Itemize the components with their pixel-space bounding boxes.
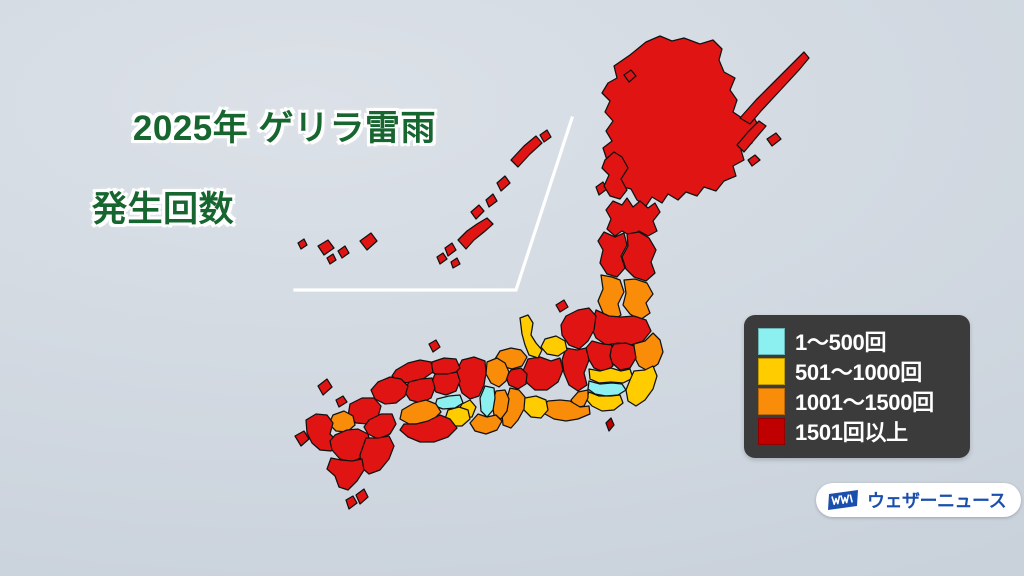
legend-label-1: 501〜1000回 [795, 355, 922, 387]
pref-hokkaido-shiretoko[interactable] [740, 52, 809, 124]
pref-izuisland[interactable] [606, 418, 614, 431]
pref-saitama[interactable] [589, 368, 633, 383]
weather-map-screen: 2025年 ゲリラ雷雨 発生回数 1〜500回 501〜1000回 1001〜1… [0, 0, 1024, 576]
pref-nansei-isl8[interactable] [540, 130, 551, 142]
pref-nansei-isl4[interactable] [471, 205, 484, 219]
pref-yamaguchi[interactable] [371, 377, 408, 404]
pref-okinawa-isl1[interactable] [445, 243, 456, 256]
pref-akita[interactable] [598, 232, 627, 277]
legend-swatch-1 [758, 358, 785, 385]
title-line-1: 2025年 ゲリラ雷雨 [133, 109, 436, 148]
pref-hokkaido[interactable] [602, 36, 757, 206]
pref-nagano[interactable] [562, 348, 589, 391]
legend-swatch-2 [758, 388, 785, 415]
pref-ishikawa[interactable] [520, 315, 542, 358]
legend-panel: 1〜500回 501〜1000回 1001〜1500回 1501回以上 [744, 315, 970, 458]
weathernews-logo[interactable]: ウェザーニュース [816, 483, 1021, 517]
pref-nagasaki-iki[interactable] [336, 396, 347, 407]
legend-swatch-3 [758, 418, 785, 445]
pref-miyazaki[interactable] [360, 436, 394, 474]
legend-label-3: 1501回以上 [795, 415, 908, 447]
page-title: 2025年 ゲリラ雷雨 発生回数 [92, 68, 436, 312]
pref-sado[interactable] [556, 300, 568, 312]
pref-osaka[interactable] [480, 386, 495, 417]
legend-label-2: 1001〜1500回 [795, 385, 934, 417]
legend-swatch-0 [758, 328, 785, 355]
pref-kagoshima[interactable] [327, 458, 364, 490]
pref-kagoshima-amami[interactable] [346, 496, 357, 509]
legend-item-1[interactable]: 501〜1000回 [758, 356, 956, 386]
wni-mark-icon [827, 490, 860, 510]
legend-item-0[interactable]: 1〜500回 [758, 326, 956, 356]
pref-nagasaki-tsushima[interactable] [318, 379, 332, 395]
pref-toyama[interactable] [541, 336, 567, 356]
legend-label-0: 1〜500回 [795, 325, 886, 357]
pref-aomori[interactable] [606, 198, 660, 236]
legend-item-3[interactable]: 1501回以上 [758, 416, 956, 446]
pref-kagoshima-tanegashima[interactable] [356, 489, 368, 504]
pref-hiroshima[interactable] [404, 378, 435, 403]
pref-hokkaido-isl2[interactable] [748, 155, 760, 166]
pref-okayama[interactable] [431, 372, 460, 395]
pref-hokkaido-isl1[interactable] [767, 133, 781, 146]
pref-nansei-isl6[interactable] [497, 176, 510, 191]
logo-brand-text: ウェザーニュース [867, 487, 1006, 513]
pref-nansei-isl7[interactable] [511, 136, 542, 167]
pref-okinawa-isl3[interactable] [451, 258, 460, 268]
legend-item-2[interactable]: 1001〜1500回 [758, 386, 956, 416]
pref-miyagi[interactable] [623, 279, 653, 320]
pref-okinoshima[interactable] [429, 340, 440, 352]
title-line-2: 発生回数 [92, 190, 436, 231]
pref-gifu[interactable] [523, 357, 563, 390]
pref-iwate[interactable] [622, 232, 656, 281]
pref-gunma[interactable] [586, 341, 613, 372]
pref-okinawa-isl2[interactable] [437, 253, 447, 264]
pref-nansei-isl5[interactable] [486, 194, 497, 207]
pref-wakayama[interactable] [470, 414, 502, 434]
pref-okinawa-main[interactable] [458, 218, 493, 249]
